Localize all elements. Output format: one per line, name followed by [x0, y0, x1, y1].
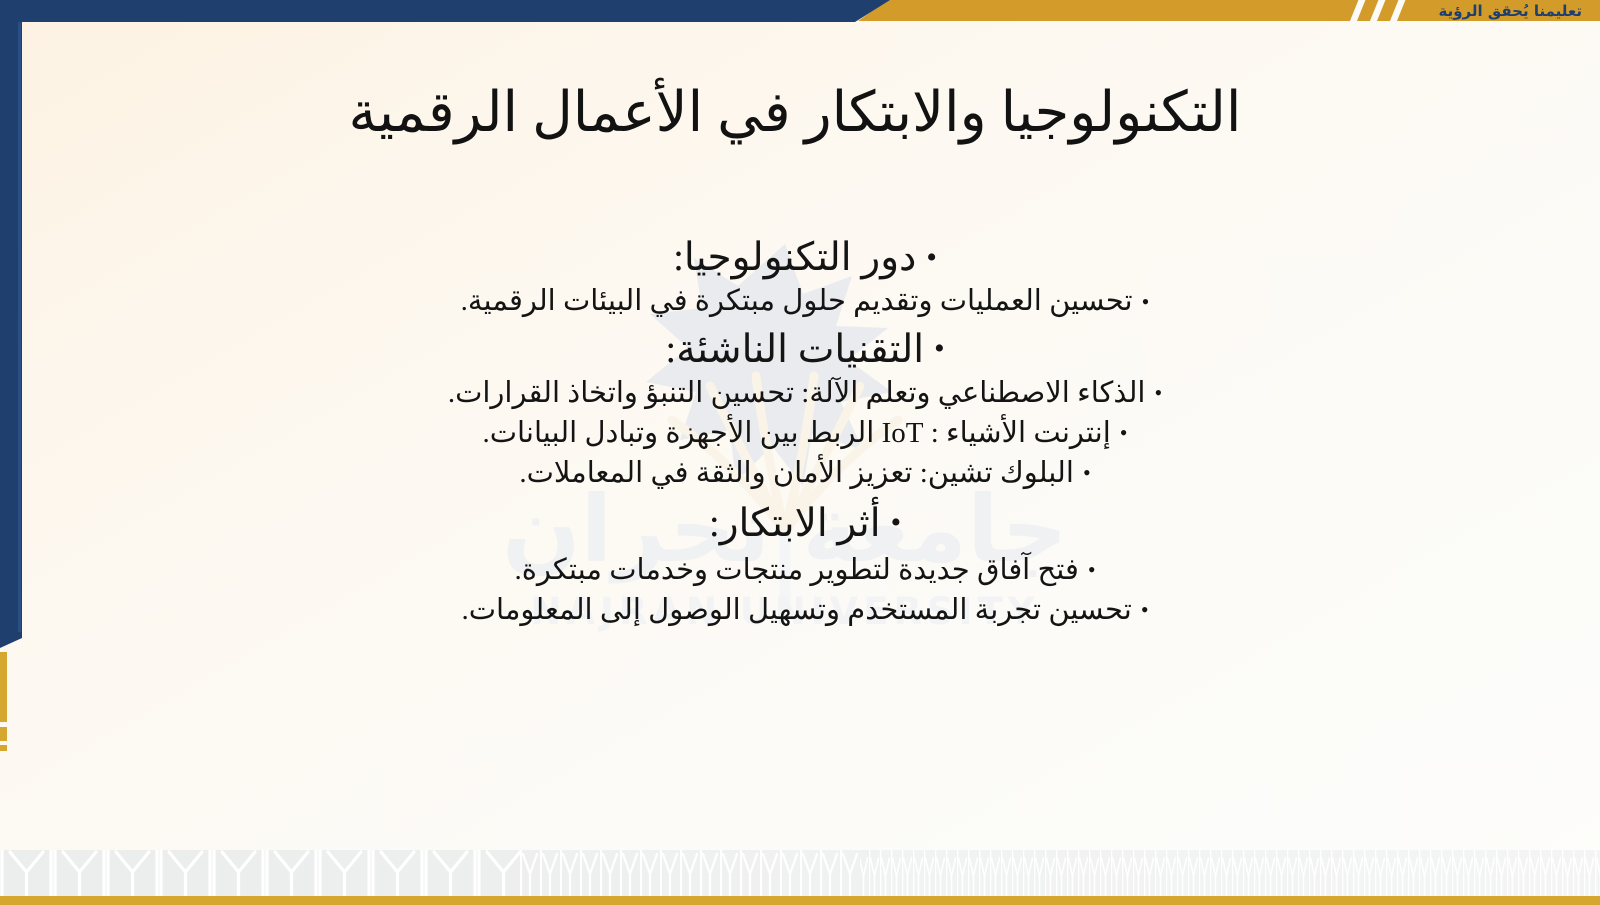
bullet-text: إنترنت الأشياء : IoT الربط بين الأجهزة و… [483, 416, 1111, 451]
bullet-item: •الذكاء الاصطناعي وتعلم الآلة: تحسين الت… [80, 374, 1530, 411]
bullet-marker-icon: • [1142, 289, 1150, 316]
bullet-text: أثر الابتكار: [709, 501, 881, 546]
left-navy-accent-highlight [18, 22, 21, 632]
bullet-text: البلوك تشين: تعزيز الأمان والثقة في المع… [519, 456, 1074, 491]
bullet-item: •إنترنت الأشياء : IoT الربط بين الأجهزة … [80, 414, 1530, 451]
bullet-text: تحسين تجربة المستخدم وتسهيل الوصول إلى ا… [461, 593, 1131, 628]
bottom-pattern-band [0, 850, 1600, 896]
bullet-item: •أثر الابتكار: [80, 497, 1530, 546]
bullet-text: الذكاء الاصطناعي وتعلم الآلة: تحسين التن… [448, 376, 1146, 411]
bullet-item: •دور التكنولوجيا: [80, 232, 1530, 281]
slide-content: التكنولوجيا والابتكار في الأعمال الرقمية… [0, 0, 1600, 905]
slide-canvas: جامعة نجران NAJRAN UNIVERSITY تعليمنا يُ… [0, 0, 1600, 905]
bottom-gold-rule [0, 896, 1600, 905]
left-gold-accent-medium [0, 727, 7, 741]
left-gold-accent-short [0, 745, 7, 751]
bullet-item: •تحسين العمليات وتقديم حلول مبتكرة في ال… [80, 283, 1530, 320]
bullet-item: •التقنيات الناشئة: [80, 324, 1530, 373]
bullet-marker-icon: • [934, 332, 945, 367]
bullet-marker-icon: • [1088, 557, 1096, 584]
bullet-text: فتح آفاق جديدة لتطوير منتجات وخدمات مبتك… [514, 553, 1078, 588]
bullet-marker-icon: • [1141, 597, 1149, 624]
header-tagline: تعليمنا يُحقق الرؤية [1438, 1, 1582, 21]
bullet-item: •تحسين تجربة المستخدم وتسهيل الوصول إلى … [80, 591, 1530, 628]
bullet-list: •دور التكنولوجيا:•تحسين العمليات وتقديم … [80, 232, 1530, 631]
bullet-marker-icon: • [1154, 380, 1162, 407]
bullet-item: •فتح آفاق جديدة لتطوير منتجات وخدمات مبت… [80, 551, 1530, 588]
left-gold-accent-long [0, 652, 7, 722]
top-navy-bar [0, 0, 890, 22]
bullet-marker-icon: • [1083, 460, 1091, 487]
bullet-marker-icon: • [891, 506, 902, 541]
bottom-frond-pattern-icon [0, 850, 1600, 896]
bullet-marker-icon: • [926, 241, 937, 276]
bullet-text: التقنيات الناشئة: [665, 327, 924, 372]
bullet-text: دور التكنولوجيا: [673, 235, 916, 280]
bullet-text: تحسين العمليات وتقديم حلول مبتكرة في الب… [461, 284, 1133, 319]
bullet-marker-icon: • [1120, 420, 1128, 447]
bullet-item: •البلوك تشين: تعزيز الأمان والثقة في الم… [80, 454, 1530, 491]
slide-title: التكنولوجيا والابتكار في الأعمال الرقمية [80, 78, 1510, 148]
